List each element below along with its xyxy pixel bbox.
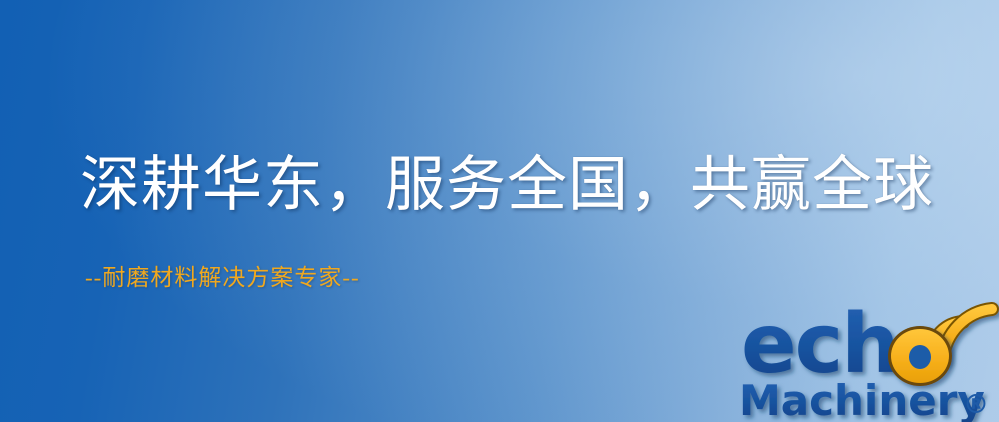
echo-machinery-logo: ech Machinery ®: [735, 296, 999, 422]
page-subtitle: --耐磨材料解决方案专家--: [85, 266, 360, 289]
page-title: 深耕华东，服务全国，共赢全球: [80, 155, 934, 215]
registered-trademark-icon: ®: [963, 390, 989, 420]
promo-banner: 深耕华东，服务全国，共赢全球 --耐磨材料解决方案专家--: [0, 0, 999, 422]
logo-wordmark-machinery: Machinery: [739, 376, 985, 422]
